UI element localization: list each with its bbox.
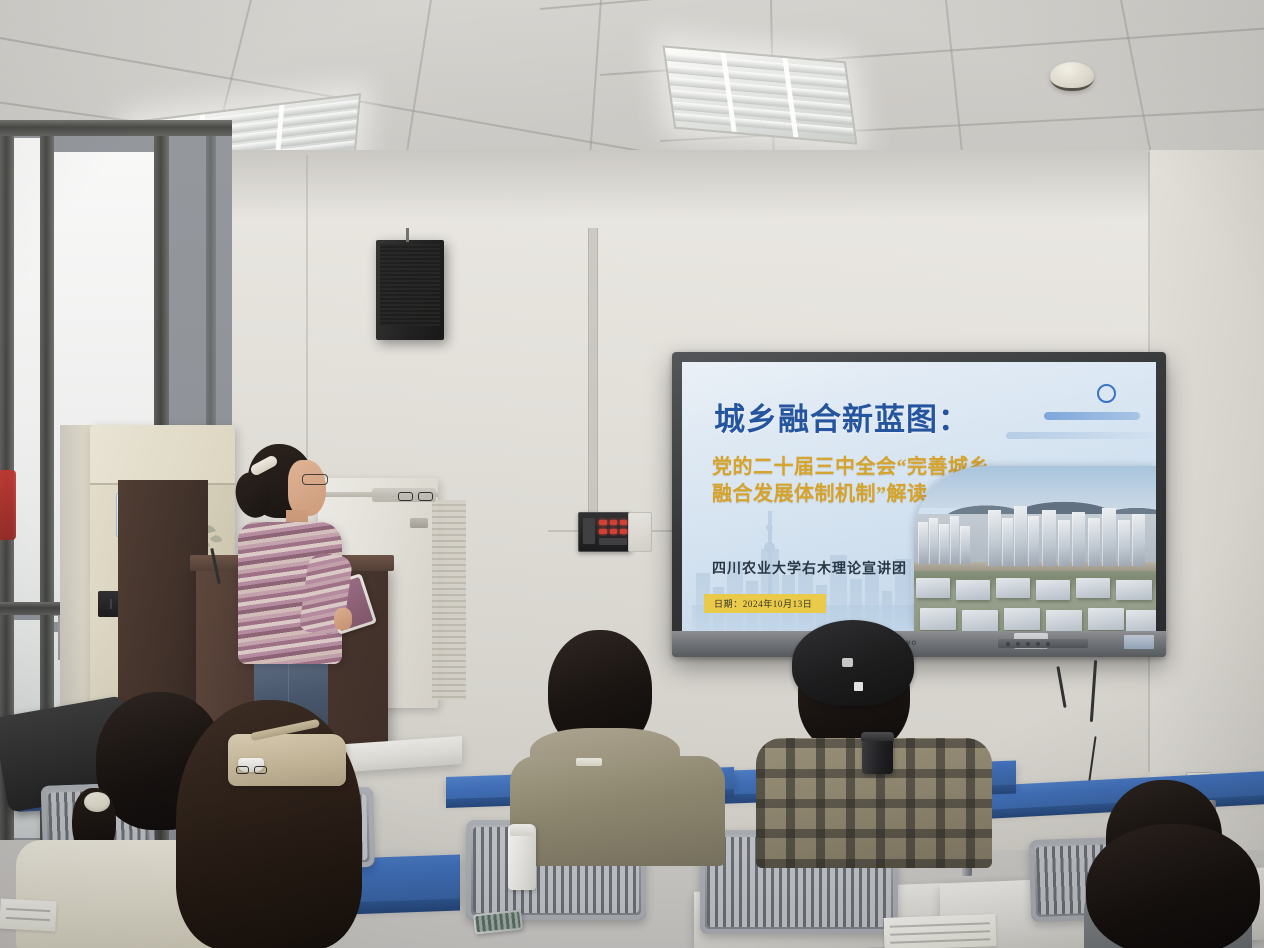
cap-tag <box>854 682 863 691</box>
black-travel-tumbler <box>862 732 893 774</box>
slide-organization: 四川农业大学右木理论宣讲团 <box>712 558 907 578</box>
smartphone-on-desk[interactable] <box>473 910 523 935</box>
notebook-paper <box>883 914 996 948</box>
slide-title: 城乡融合新蓝图： <box>714 404 1054 437</box>
ceiling-light-right <box>662 45 857 144</box>
ac-unit-side <box>60 425 92 725</box>
presenter-face <box>288 460 326 516</box>
display-right-badge <box>1124 635 1154 649</box>
notebook-paper-left <box>0 899 57 932</box>
hoodie-label-tag <box>576 758 602 766</box>
eyeglasses-on-cabinet <box>398 492 434 499</box>
student-bottom-right <box>1078 824 1264 948</box>
wall-panel-plate <box>628 512 652 552</box>
student-torso <box>510 756 725 866</box>
aerial-cityscape-photo <box>914 466 1156 631</box>
cabinet-vent-grille <box>432 500 466 700</box>
eyeglasses-on-desk <box>236 766 266 772</box>
accent-bar <box>1044 412 1140 420</box>
hair-scrunchie <box>84 792 110 812</box>
display-button-down[interactable] <box>1036 642 1040 646</box>
presenter-eyeglasses <box>302 474 328 485</box>
student-head <box>1086 824 1260 948</box>
display-button-source[interactable] <box>1046 642 1050 646</box>
smoke-detector-icon <box>1050 62 1094 91</box>
display-button-power[interactable] <box>1006 642 1010 646</box>
display-screen[interactable]: 城乡融合新蓝图： 党的二十届三中全会“完善城乡 融合发展体制机制”解读 四川农业… <box>682 362 1156 631</box>
cap-logo-icon <box>842 658 853 667</box>
red-flag-fragment <box>0 470 16 540</box>
display-sensor-bar <box>998 639 1088 648</box>
presentation-slide: 城乡融合新蓝图： 党的二十届三中全会“完善城乡 融合发展体制机制”解读 四川农业… <box>682 362 1156 631</box>
wall-control-panel[interactable] <box>578 512 632 552</box>
interactive-flat-panel-display[interactable]: 城乡融合新蓝图： 党的二十届三中全会“完善城乡 融合发展体制机制”解读 四川农业… <box>672 352 1166 657</box>
display-button-up[interactable] <box>1026 642 1030 646</box>
right-wall-column <box>1150 150 1264 850</box>
wall-speaker <box>376 240 444 340</box>
slide-date-badge: 日期：2024年10月13日 <box>704 594 826 613</box>
circle-outline-icon <box>1097 384 1116 403</box>
black-beanie-cap <box>792 620 914 706</box>
presenter-hand <box>334 608 352 630</box>
wall-shadow <box>225 150 1264 220</box>
classroom-photo-scene: 城乡融合新蓝图： 党的二十届三中全会“完善城乡 融合发展体制机制”解读 四川农业… <box>0 0 1264 948</box>
wall-conduit <box>588 228 598 528</box>
display-button-menu[interactable] <box>1016 642 1020 646</box>
white-water-bottle <box>508 824 536 890</box>
student-mid-khaki-hoodie <box>520 630 730 860</box>
